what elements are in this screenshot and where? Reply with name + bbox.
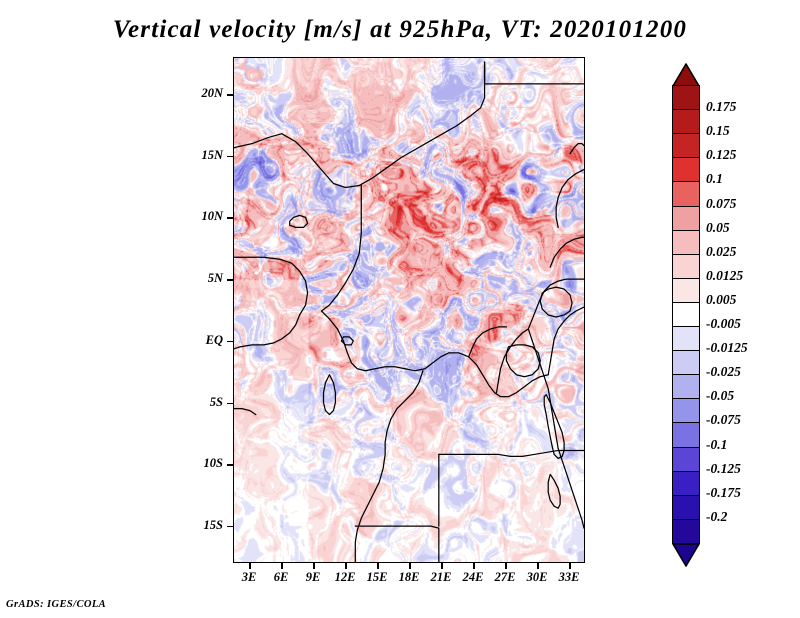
colorbar-tick-label: -0.0125 [706, 340, 748, 356]
colorbar-tick-label: -0.005 [706, 316, 741, 332]
colorbar-swatch [672, 302, 700, 328]
colorbar-swatch [672, 181, 700, 207]
y-axis-tick-mark [227, 403, 233, 405]
grads-watermark: GrADS: IGES/COLA [6, 599, 106, 610]
colorbar-swatch [672, 85, 700, 111]
colorbar-swatch [672, 278, 700, 304]
colorbar-tick-label: 0.125 [706, 147, 736, 163]
x-axis-tick-mark [313, 563, 315, 569]
x-axis-tick-label: 3E [232, 570, 266, 585]
x-axis-tick-mark [473, 563, 475, 569]
coastline-overlay [234, 58, 584, 562]
chart-title: Vertical velocity [m/s] at 925hPa, VT: 2… [0, 16, 800, 44]
y-axis-tick-label: 15S [177, 518, 223, 533]
x-axis-tick-mark [409, 563, 411, 569]
y-axis-tick-label: 5N [177, 271, 223, 286]
colorbar-tick-label: -0.125 [706, 461, 741, 477]
y-axis-tick-mark [227, 156, 233, 158]
colorbar-swatch [672, 254, 700, 280]
colorbar-over-arrow [672, 63, 700, 87]
colorbar-tick-label: -0.2 [706, 509, 727, 525]
colorbar-under-arrow [672, 543, 700, 567]
x-axis-tick-label: 21E [424, 570, 458, 585]
x-axis-tick-mark [505, 563, 507, 569]
colorbar-tick-label: -0.025 [706, 364, 741, 380]
colorbar-swatch [672, 495, 700, 521]
colorbar-swatch [672, 374, 700, 400]
x-axis-tick-label: 12E [328, 570, 362, 585]
y-axis-tick-label: 5S [177, 395, 223, 410]
x-axis-tick-label: 27E [488, 570, 522, 585]
colorbar-swatch [672, 398, 700, 424]
x-axis-tick-label: 24E [456, 570, 490, 585]
y-axis-tick-label: 15N [177, 148, 223, 163]
x-axis-tick-label: 15E [360, 570, 394, 585]
colorbar-swatch [672, 519, 700, 545]
y-axis-tick-label: 10S [177, 456, 223, 471]
x-axis-tick-label: 18E [392, 570, 426, 585]
colorbar-tick-label: 0.1 [706, 171, 723, 187]
colorbar-swatch [672, 326, 700, 352]
colorbar-tick-label: 0.175 [706, 99, 736, 115]
x-axis-tick-mark [281, 563, 283, 569]
x-axis-tick-label: 9E [296, 570, 330, 585]
x-axis-tick-mark [537, 563, 539, 569]
colorbar-swatch [672, 422, 700, 448]
y-axis-tick-mark [227, 94, 233, 96]
colorbar-tick-label: 0.005 [706, 292, 736, 308]
colorbar-tick-label: 0.05 [706, 220, 730, 236]
colorbar-swatch [672, 471, 700, 497]
colorbar-tick-label: 0.075 [706, 196, 736, 212]
colorbar-swatch [672, 230, 700, 256]
x-axis-tick-label: 30E [520, 570, 554, 585]
y-axis-tick-mark [227, 341, 233, 343]
x-axis-tick-mark [345, 563, 347, 569]
y-axis-tick-mark [227, 464, 233, 466]
y-axis-tick-mark [227, 217, 233, 219]
x-axis-tick-mark [377, 563, 379, 569]
y-axis-tick-mark [227, 526, 233, 528]
x-axis-tick-mark [569, 563, 571, 569]
colorbar-tick-label: 0.15 [706, 123, 730, 139]
y-axis-tick-label: 20N [177, 86, 223, 101]
x-axis-tick-label: 33E [552, 570, 586, 585]
y-axis-tick-label: EQ [177, 333, 223, 348]
colorbar-tick-label: -0.175 [706, 485, 741, 501]
colorbar-swatch [672, 109, 700, 135]
x-axis-tick-mark [441, 563, 443, 569]
colorbar-swatch [672, 350, 700, 376]
colorbar-tick-label: 0.025 [706, 244, 736, 260]
colorbar-swatch [672, 206, 700, 232]
map-plot-area [233, 57, 585, 563]
y-axis-tick-label: 10N [177, 209, 223, 224]
colorbar-tick-label: -0.1 [706, 437, 727, 453]
x-axis-tick-mark [249, 563, 251, 569]
colorbar[interactable]: 0.1750.150.1250.10.0750.050.0250.01250.0… [672, 63, 800, 563]
colorbar-tick-label: 0.0125 [706, 268, 743, 284]
y-axis-tick-mark [227, 279, 233, 281]
colorbar-swatch [672, 157, 700, 183]
colorbar-tick-label: -0.075 [706, 412, 741, 428]
colorbar-swatch [672, 447, 700, 473]
colorbar-tick-label: -0.05 [706, 388, 734, 404]
colorbar-swatch [672, 133, 700, 159]
x-axis-tick-label: 6E [264, 570, 298, 585]
